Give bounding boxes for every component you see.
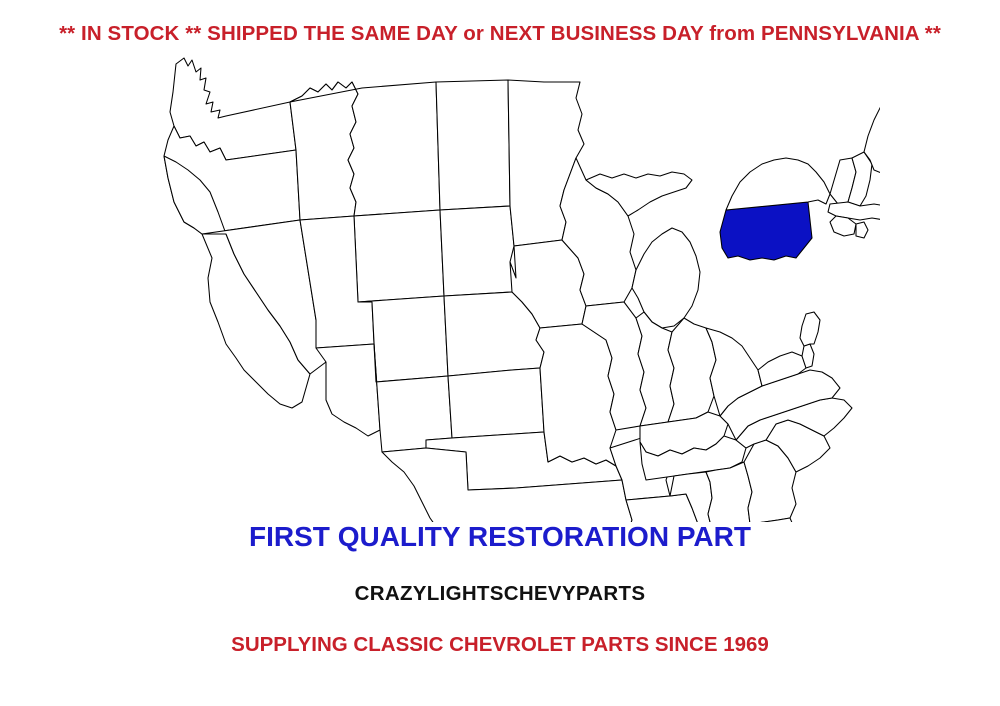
listing-graphic: ** IN STOCK ** SHIPPED THE SAME DAY or N… — [0, 0, 1000, 706]
state-arizona — [316, 344, 380, 436]
tagline-primary-text: FIRST QUALITY RESTORATION PART — [0, 520, 1000, 554]
header-banner: ** IN STOCK ** SHIPPED THE SAME DAY or N… — [0, 22, 1000, 46]
state-rhode-island — [856, 222, 868, 238]
state-north-dakota — [436, 80, 510, 210]
us-map-svg — [140, 52, 880, 522]
state-new-york — [726, 158, 830, 210]
state-kansas — [448, 368, 544, 438]
state-wyoming — [354, 210, 444, 302]
tagline-footer-text: SUPPLYING CLASSIC CHEVROLET PARTS SINCE … — [0, 632, 1000, 658]
store-name-text: CRAZYLIGHTSCHEVYPARTS — [0, 581, 1000, 607]
state-idaho — [290, 82, 358, 220]
state-pennsylvania-highlighted — [720, 202, 812, 260]
us-map-container — [140, 52, 880, 522]
state-alabama — [706, 462, 752, 522]
state-new-jersey — [800, 312, 820, 346]
state-missouri — [536, 324, 616, 466]
state-south-dakota — [440, 206, 516, 296]
shipping-notice-text: ** IN STOCK ** SHIPPED THE SAME DAY or N… — [59, 22, 941, 46]
tagline-block: FIRST QUALITY RESTORATION PART CRAZYLIGH… — [0, 520, 1000, 658]
